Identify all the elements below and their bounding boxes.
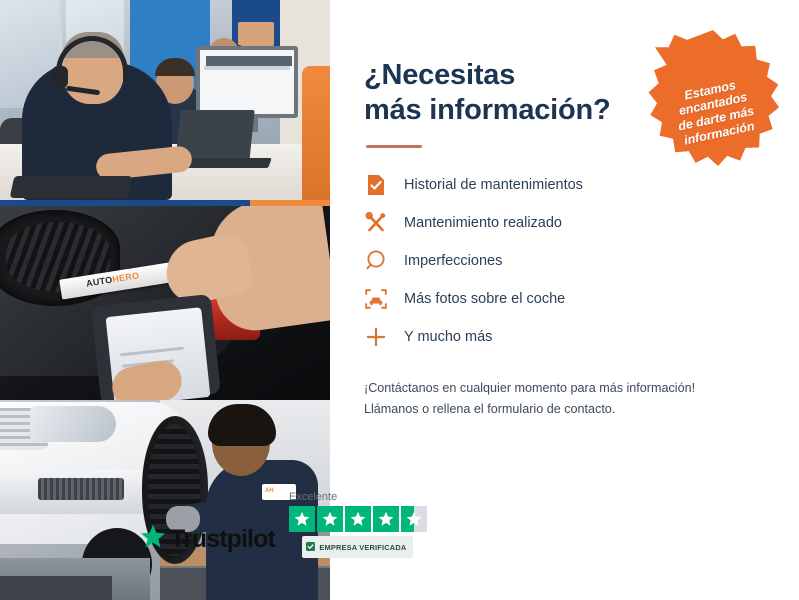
verified-check-icon	[306, 538, 315, 556]
feature-label: Más fotos sobre el coche	[404, 291, 565, 307]
contact-line-1: ¡Contáctanos en cualquier momento para m…	[364, 381, 695, 395]
magnifier-icon	[364, 249, 388, 273]
star-filled	[317, 506, 343, 532]
trustpilot-rating-label: Excelente	[289, 491, 337, 503]
feature-label: Y mucho más	[404, 329, 492, 345]
star-filled	[373, 506, 399, 532]
headline-line-2: más información?	[364, 94, 611, 126]
feature-label: Mantenimiento realizado	[404, 215, 562, 231]
plus-icon	[364, 325, 388, 349]
ruler-brand-part1: AUTO	[85, 275, 113, 289]
headline-line-1: ¿Necesitas	[364, 59, 515, 91]
verified-company-badge: EMPRESA VERIFICADA	[302, 536, 413, 558]
trustpilot-widget[interactable]: Trustpilot Excelente	[140, 491, 427, 558]
document-check-icon	[364, 173, 388, 197]
title-divider	[366, 145, 422, 148]
tools-icon	[364, 211, 388, 235]
feature-item-imperfections: Imperfecciones	[364, 242, 765, 280]
trustpilot-rating-block: Excelente	[289, 491, 427, 558]
trustpilot-wordmark: Trustpilot	[170, 525, 275, 554]
contact-text: ¡Contáctanos en cualquier momento para m…	[364, 378, 765, 420]
car-focus-icon	[364, 287, 388, 311]
star-filled	[289, 506, 315, 532]
call-center-agent-headset-photo	[0, 0, 330, 200]
star-half	[401, 506, 427, 532]
car-inspection-ruler-tablet-photo: AUTOHERO	[0, 200, 330, 400]
star-filled	[345, 506, 371, 532]
autohero-info-banner: AUTOHERO AH ¿Necesitas	[0, 0, 799, 600]
trustpilot-stars	[289, 506, 427, 532]
feature-label: Imperfecciones	[404, 253, 502, 269]
trustpilot-logo: Trustpilot	[140, 524, 275, 558]
promo-starburst-badge: Estamos encantados de darte más informac…	[637, 28, 789, 180]
trustpilot-star-icon	[140, 524, 166, 554]
feature-list: Historial de mantenimientos Mantenimient…	[364, 166, 765, 356]
feature-label: Historial de mantenimientos	[404, 177, 583, 193]
ruler-brand-part2: HERO	[112, 270, 140, 284]
feature-item-maintenance-done: Mantenimiento realizado	[364, 204, 765, 242]
feature-item-more-photos: Más fotos sobre el coche	[364, 280, 765, 318]
contact-line-2: Llámanos o rellena el formulario de cont…	[364, 402, 615, 416]
verified-company-label: EMPRESA VERIFICADA	[319, 543, 406, 552]
page-title: ¿Necesitas más información?	[364, 58, 664, 129]
feature-item-much-more: Y mucho más	[364, 318, 765, 356]
